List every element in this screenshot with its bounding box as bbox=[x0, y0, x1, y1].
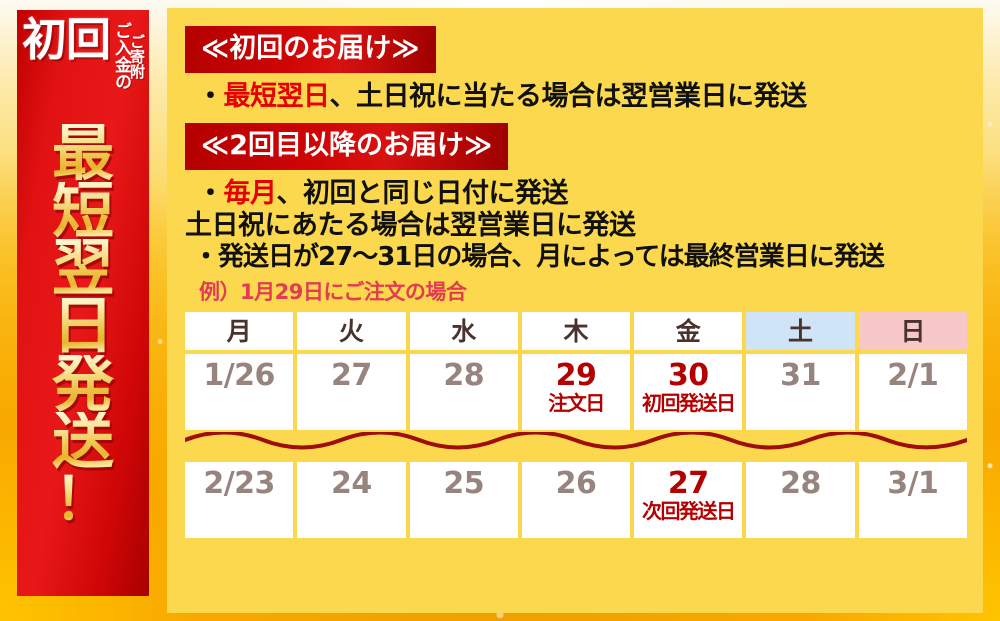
weekday-label: 火 bbox=[339, 319, 364, 344]
calendar-cell: 1/26 bbox=[185, 354, 293, 430]
date-number: 28 bbox=[443, 360, 484, 392]
calendar-cell-next-shipping-date: 27 次回発送日 bbox=[634, 462, 742, 538]
date-tag: 注文日 bbox=[548, 393, 604, 414]
calendar-cell: 2/1 bbox=[859, 354, 967, 430]
date-number: 27 bbox=[668, 468, 709, 500]
banner-headline-char-4: 日 bbox=[17, 297, 149, 355]
banner-badge-sub-group: ご寄附 ご入金の bbox=[112, 18, 144, 90]
bullet-recurring-2: 土日祝にあたる場合は翌営業日に発送 bbox=[185, 210, 969, 242]
bullet-text: 、初回と同じ日付に発送 bbox=[277, 178, 569, 209]
date-tag: 初回発送日 bbox=[642, 393, 735, 414]
date-number: 28 bbox=[780, 468, 821, 500]
calendar-weekday-wed: 水 bbox=[410, 312, 518, 350]
banner-headline-char-1: 最 bbox=[17, 124, 149, 182]
calendar-weekday-sat: 土 bbox=[746, 312, 854, 350]
calendar-cell: 28 bbox=[410, 354, 518, 430]
calendar-cell: 24 bbox=[297, 462, 405, 538]
date-number: 27 bbox=[331, 360, 372, 392]
bullet-first-delivery-1: ・最短翌日、土日祝に当たる場合は翌営業日に発送 bbox=[185, 81, 969, 113]
calendar-cell: 26 bbox=[522, 462, 630, 538]
calendar-cell-order-date: 29 注文日 bbox=[522, 354, 630, 430]
banner-badge-main: 初回 bbox=[22, 18, 110, 62]
bullet-recurring-1: ・毎月、初回と同じ日付に発送 bbox=[185, 178, 969, 210]
calendar-weekday-header-row: 月 火 水 木 金 土 日 bbox=[185, 312, 967, 350]
calendar-weekday-fri: 金 bbox=[634, 312, 742, 350]
bullet-marker: ・ bbox=[197, 178, 224, 209]
calendar-cell: 25 bbox=[410, 462, 518, 538]
weekday-label: 木 bbox=[563, 319, 588, 344]
calendar-cell-first-shipping-date: 30 初回発送日 bbox=[634, 354, 742, 430]
weekday-label: 水 bbox=[451, 319, 476, 344]
bullet-marker: ・ bbox=[197, 81, 224, 112]
calendar-weekday-sun: 日 bbox=[859, 312, 967, 350]
bullet-text: 、土日祝に当たる場合は翌営業日に発送 bbox=[330, 81, 807, 112]
calendar-cell: 27 bbox=[297, 354, 405, 430]
section-heading-recurring-delivery: ≪2回目以降のお届け≫ bbox=[185, 123, 508, 170]
banner-headline: 最 短 翌 日 発 送 ！ bbox=[17, 124, 149, 528]
bullet-highlight: 最短翌日 bbox=[224, 81, 330, 112]
date-number: 24 bbox=[331, 468, 372, 500]
calendar-cell: 3/1 bbox=[859, 462, 967, 538]
calendar-cell: 28 bbox=[746, 462, 854, 538]
calendar-weekday-mon: 月 bbox=[185, 312, 293, 350]
date-number: 3/1 bbox=[887, 468, 938, 500]
calendar-weekday-thu: 木 bbox=[522, 312, 630, 350]
bullet-text: 発送日が27〜31日の場合、月によっては最終営業日に発送 bbox=[218, 242, 884, 272]
date-number: 31 bbox=[780, 360, 821, 392]
shipping-calendar: 月 火 水 木 金 土 日 1/26 bbox=[185, 312, 967, 538]
date-number: 1/26 bbox=[203, 360, 275, 392]
section-heading-first-delivery: ≪初回のお届け≫ bbox=[185, 26, 436, 73]
date-number: 2/23 bbox=[203, 468, 275, 500]
calendar-cell: 2/23 bbox=[185, 462, 293, 538]
banner-badge-group: 初回 ご寄附 ご入金の bbox=[17, 10, 149, 118]
date-number: 2/1 bbox=[887, 360, 938, 392]
calendar-cell: 31 bbox=[746, 354, 854, 430]
weekday-label: 金 bbox=[676, 319, 701, 344]
banner-badge-sub-2: ご寄附 bbox=[129, 22, 144, 79]
promo-red-banner: 初回 ご寄附 ご入金の 最 短 翌 日 発 送 ！ bbox=[17, 10, 149, 596]
bullet-recurring-3: ・発送日が27〜31日の場合、月によっては最終営業日に発送 bbox=[185, 242, 969, 273]
date-number: 25 bbox=[443, 468, 484, 500]
main-content: ≪初回のお届け≫ ・最短翌日、土日祝に当たる場合は翌営業日に発送 ≪2回目以降の… bbox=[167, 8, 983, 613]
weekday-label: 日 bbox=[900, 319, 925, 344]
date-tag: 次回発送日 bbox=[642, 501, 735, 522]
date-number: 30 bbox=[668, 360, 709, 392]
banner-badge-sub-1: ご入金の bbox=[112, 22, 129, 90]
example-label: 例）1月29日にご注文の場合 bbox=[185, 276, 969, 306]
calendar-date-row-2: 2/23 24 25 26 27 次回発送日 28 bbox=[185, 462, 967, 538]
wavy-divider-icon bbox=[185, 432, 967, 458]
calendar-date-row-1: 1/26 27 28 29 注文日 30 初回発送日 31 bbox=[185, 354, 967, 430]
bullet-highlight: 毎月 bbox=[224, 178, 277, 209]
banner-headline-char-6: 送 bbox=[17, 412, 149, 470]
date-number: 29 bbox=[556, 360, 597, 392]
bullet-marker: ・ bbox=[193, 242, 218, 272]
banner-headline-char-7: ！ bbox=[17, 470, 149, 528]
date-number: 26 bbox=[556, 468, 597, 500]
weekday-label: 土 bbox=[788, 319, 813, 344]
weekday-label: 月 bbox=[227, 319, 252, 344]
bullet-text: 土日祝にあたる場合は翌営業日に発送 bbox=[185, 210, 636, 241]
calendar-weekday-tue: 火 bbox=[297, 312, 405, 350]
